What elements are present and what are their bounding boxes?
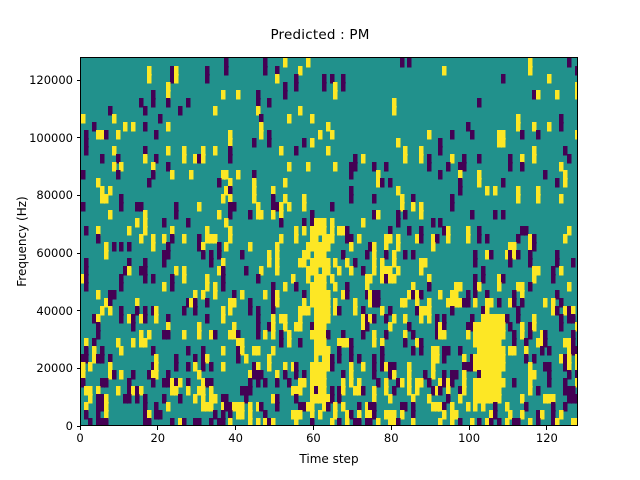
y-axis-label: Frequency (Hz): [14, 57, 30, 426]
y-tick-mark: [77, 253, 81, 254]
x-axis-label: Time step: [80, 452, 578, 466]
x-tick-mark: [469, 426, 470, 430]
y-tick-label: 120000: [29, 73, 73, 87]
y-tick-mark: [77, 368, 81, 369]
y-tick-label: 100000: [29, 131, 73, 145]
x-tick-label: 100: [458, 431, 480, 445]
x-tick-mark: [235, 426, 236, 430]
heatmap-plot-area: [80, 57, 578, 426]
y-tick-mark: [77, 80, 81, 81]
y-tick-label: 40000: [36, 304, 73, 318]
y-tick-mark: [77, 310, 81, 311]
x-tick-mark: [546, 426, 547, 430]
y-tick-mark: [77, 137, 81, 138]
y-tick-label: 80000: [36, 188, 73, 202]
x-tick-label: 0: [76, 431, 83, 445]
x-tick-mark: [157, 426, 158, 430]
y-tick-label: 0: [66, 419, 73, 433]
x-tick-label: 80: [384, 431, 399, 445]
x-tick-label: 60: [306, 431, 321, 445]
y-tick-label: 20000: [36, 361, 73, 375]
x-tick-mark: [313, 426, 314, 430]
y-tick-label: 60000: [36, 246, 73, 260]
x-tick-label: 20: [150, 431, 165, 445]
y-tick-mark: [77, 426, 81, 427]
page-title: Predicted : PM: [0, 27, 640, 43]
x-tick-label: 120: [536, 431, 558, 445]
x-tick-label: 40: [228, 431, 243, 445]
x-tick-mark: [80, 426, 81, 430]
x-tick-mark: [391, 426, 392, 430]
matplotlib-figure: Predicted : PM 0204060801001200200004000…: [0, 0, 640, 480]
heatmap-image: [81, 58, 578, 426]
y-tick-mark: [77, 195, 81, 196]
